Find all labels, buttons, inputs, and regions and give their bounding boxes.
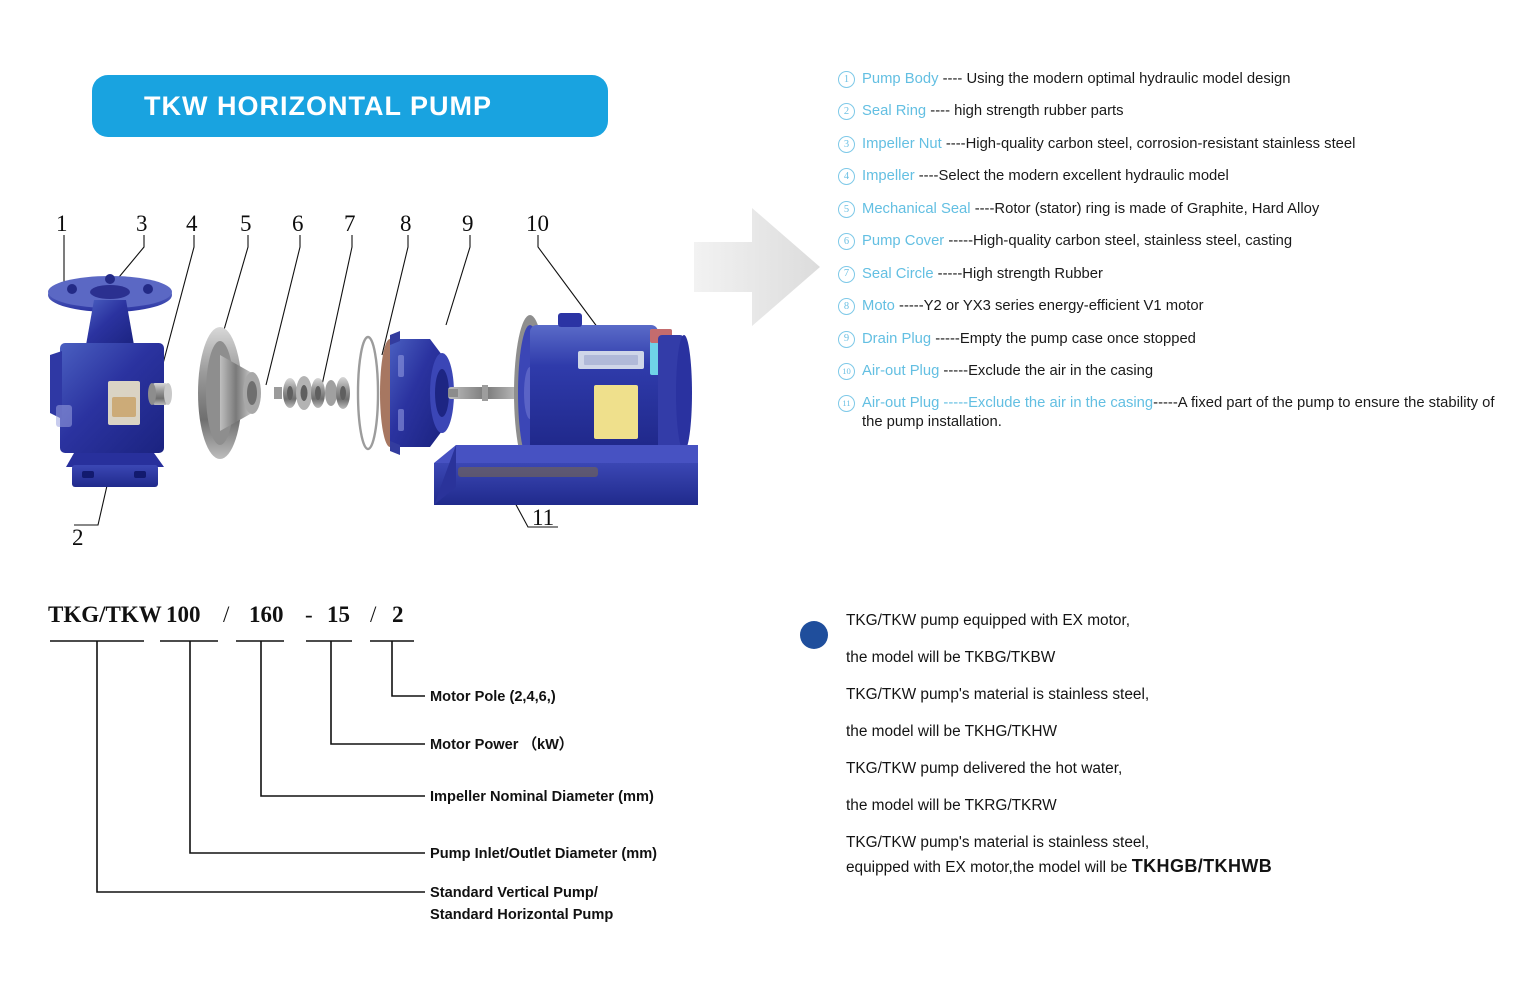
legend-part-name-7: Seal Circle (862, 266, 934, 282)
legend-text-11: Air-out Plug -----Exclude the air in the… (862, 394, 1498, 432)
base-plate-graphic (434, 445, 698, 505)
legend-number-3: 3 (838, 136, 855, 153)
model-variant-notes: TKG/TKW pump equipped with EX motor, the… (800, 612, 1420, 896)
note-line-7: TKG/TKW pump's material is stainless ste… (846, 834, 1420, 852)
label-impeller-diameter: Impeller Nominal Diameter (mm) (430, 788, 654, 807)
legend-text-5: Mechanical Seal ----Rotor (stator) ring … (862, 200, 1498, 219)
label-standard-line2: Standard Horizontal Pump (430, 906, 613, 925)
callout-9: 9 (462, 211, 474, 237)
pump-illustration (38, 205, 698, 565)
note-line-4: the model will be TKHG/TKHW (846, 723, 1420, 741)
legend-sep-6: ----- (944, 233, 973, 249)
legend-sep-1: ---- (939, 71, 967, 87)
note-line-8-model: TKHGB/TKHWB (1132, 856, 1272, 876)
legend-desc-8: Y2 or YX3 series energy-efficient V1 mot… (924, 298, 1204, 314)
callout-10: 10 (526, 211, 549, 237)
callout-1: 1 (56, 211, 68, 237)
legend-desc-6: High-quality carbon steel, stainless ste… (973, 233, 1292, 249)
exploded-pump-diagram: 1 3 4 5 6 7 8 9 10 2 11 (38, 205, 698, 565)
callout-4: 4 (186, 211, 198, 237)
legend-part-name-8: Moto (862, 298, 895, 314)
legend-part-name-10: Air-out Plug (862, 363, 939, 379)
legend-number-6: 6 (838, 233, 855, 250)
arrow-right-icon (690, 200, 830, 335)
pump-body-graphic (48, 274, 172, 487)
legend-sep-10: ----- (939, 363, 968, 379)
callout-5: 5 (240, 211, 252, 237)
note-line-8: equipped with EX motor,the model will be… (846, 856, 1420, 877)
pump-cover-graphic (380, 331, 454, 455)
label-motor-power: Motor Power （kW） (430, 736, 574, 755)
note-line-1: TKG/TKW pump equipped with EX motor, (846, 612, 1420, 630)
legend-desc-2: high strength rubber parts (954, 103, 1123, 119)
legend-item: 11 Air-out Plug -----Exclude the air in … (838, 394, 1498, 432)
legend-item: 8 Moto -----Y2 or YX3 series energy-effi… (838, 297, 1498, 316)
legend-number-4: 4 (838, 168, 855, 185)
impeller-nut-graphic (148, 383, 172, 405)
legend-part-name-3: Impeller Nut (862, 136, 942, 152)
label-motor-pole: Motor Pole (2,4,6,) (430, 688, 556, 707)
seal-circle-graphic (358, 337, 378, 449)
legend-text-7: Seal Circle -----High strength Rubber (862, 265, 1498, 284)
legend-part-name-11: Air-out Plug (862, 395, 939, 411)
legend-item: 10 Air-out Plug -----Exclude the air in … (838, 362, 1498, 381)
impeller-graphic (198, 327, 261, 459)
legend-desc-7: High strength Rubber (962, 266, 1103, 282)
legend-number-11: 11 (838, 395, 855, 412)
legend-text-1: Pump Body ---- Using the modern optimal … (862, 70, 1498, 89)
motor-shaft-graphic (448, 385, 524, 401)
legend-text-4: Impeller ----Select the modern excellent… (862, 167, 1498, 186)
legend-blue-desc-11: Exclude the air in the casing (968, 395, 1153, 411)
legend-part-name-6: Pump Cover (862, 233, 944, 249)
legend-sep-9: ----- (931, 331, 960, 347)
label-inlet-outlet: Pump Inlet/Outlet Diameter (mm) (430, 845, 657, 864)
legend-sep-5: ---- (971, 201, 995, 217)
legend-number-9: 9 (838, 331, 855, 348)
legend-text-3: Impeller Nut ----High-quality carbon ste… (862, 135, 1498, 154)
model-code-breakdown: TKG/TKW 100 / 160 - 15 / 2 (40, 596, 740, 966)
callout-3: 3 (136, 211, 148, 237)
legend-desc-9: Empty the pump case once stopped (960, 331, 1196, 347)
legend-item: 7 Seal Circle -----High strength Rubber (838, 265, 1498, 284)
legend-number-8: 8 (838, 298, 855, 315)
callout-2: 2 (72, 525, 84, 551)
legend-item: 6 Pump Cover -----High-quality carbon st… (838, 232, 1498, 251)
page-root: TKW HORIZONTAL PUMP (0, 0, 1513, 1000)
flow-arrow (690, 200, 830, 340)
legend-desc-4: Select the modern excellent hydraulic mo… (938, 168, 1228, 184)
legend-desc-1: Using the modern optimal hydraulic model… (966, 71, 1290, 87)
legend-text-8: Moto -----Y2 or YX3 series energy-effici… (862, 297, 1498, 316)
model-code-leader-lines (40, 596, 740, 966)
callout-8: 8 (400, 211, 412, 237)
legend-number-5: 5 (838, 201, 855, 218)
note-line-6: the model will be TKRG/TKRW (846, 797, 1420, 815)
legend-sep-2: ---- (926, 103, 954, 119)
legend-text-6: Pump Cover -----High-quality carbon stee… (862, 232, 1498, 251)
legend-item: 4 Impeller ----Select the modern excelle… (838, 167, 1498, 186)
notes-lines: TKG/TKW pump equipped with EX motor, the… (846, 612, 1420, 877)
parts-legend: 1 Pump Body ---- Using the modern optima… (838, 70, 1498, 446)
callout-6: 6 (292, 211, 304, 237)
legend-sep-11: ----- (939, 395, 968, 411)
legend-part-name-2: Seal Ring (862, 103, 926, 119)
note-line-3: TKG/TKW pump's material is stainless ste… (846, 686, 1420, 704)
bullet-dot-icon (800, 621, 828, 649)
callout-11: 11 (532, 505, 554, 531)
callout-7: 7 (344, 211, 356, 237)
legend-part-name-5: Mechanical Seal (862, 201, 971, 217)
note-line-8-pre: equipped with EX motor,the model will be (846, 859, 1132, 876)
legend-part-name-1: Pump Body (862, 71, 939, 87)
legend-number-10: 10 (838, 363, 855, 380)
legend-desc-10: Exclude the air in the casing (968, 363, 1153, 379)
note-line-2: the model will be TKBG/TKBW (846, 649, 1420, 667)
legend-text-2: Seal Ring ---- high strength rubber part… (862, 102, 1498, 121)
legend-item: 5 Mechanical Seal ----Rotor (stator) rin… (838, 200, 1498, 219)
legend-text-10: Air-out Plug -----Exclude the air in the… (862, 362, 1498, 381)
legend-part-name-4: Impeller (862, 168, 915, 184)
legend-number-7: 7 (838, 266, 855, 283)
legend-number-2: 2 (838, 103, 855, 120)
legend-part-name-9: Drain Plug (862, 331, 931, 347)
mechanical-seal-graphic (274, 376, 350, 410)
page-title: TKW HORIZONTAL PUMP (92, 91, 492, 122)
legend-item: 2 Seal Ring ---- high strength rubber pa… (838, 102, 1498, 121)
legend-desc-3: High-quality carbon steel, corrosion-res… (966, 136, 1356, 152)
label-standard-line1: Standard Vertical Pump/ (430, 884, 598, 903)
legend-sep-8: ----- (895, 298, 924, 314)
legend-desc-5: Rotor (stator) ring is made of Graphite,… (994, 201, 1319, 217)
legend-number-1: 1 (838, 71, 855, 88)
legend-black-sep-11: ----- (1153, 395, 1178, 411)
legend-sep-4: ---- (915, 168, 939, 184)
legend-sep-7: ----- (934, 266, 963, 282)
legend-sep-3: ---- (942, 136, 966, 152)
legend-item: 9 Drain Plug -----Empty the pump case on… (838, 330, 1498, 349)
note-line-5: TKG/TKW pump delivered the hot water, (846, 760, 1420, 778)
legend-text-9: Drain Plug -----Empty the pump case once… (862, 330, 1498, 349)
legend-item: 3 Impeller Nut ----High-quality carbon s… (838, 135, 1498, 154)
page-title-banner: TKW HORIZONTAL PUMP (92, 75, 608, 137)
legend-item: 1 Pump Body ---- Using the modern optima… (838, 70, 1498, 89)
